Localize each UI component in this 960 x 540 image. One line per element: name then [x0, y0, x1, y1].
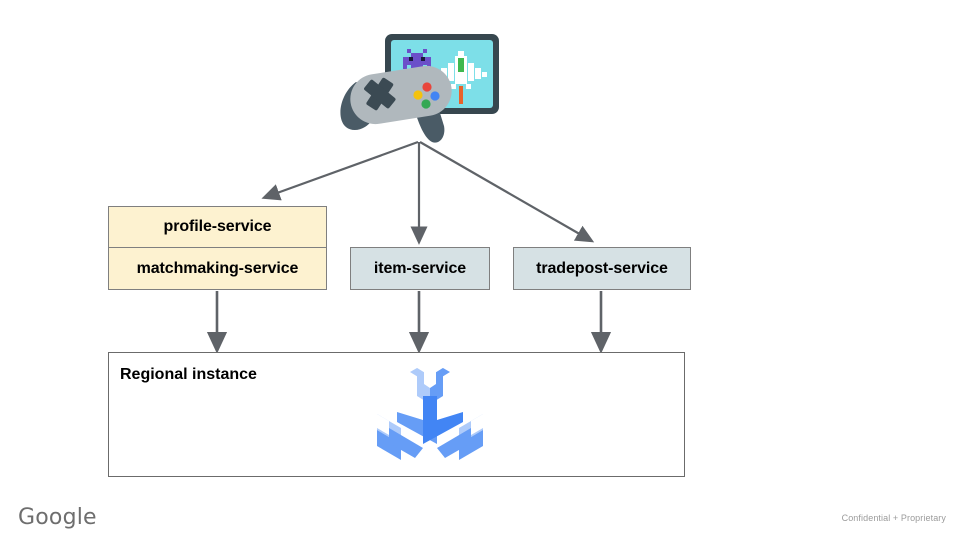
- service-label: item-service: [374, 260, 466, 278]
- service-box-profile-service[interactable]: profile-service: [108, 206, 327, 248]
- spaceship-exhaust: [459, 86, 463, 104]
- service-label: tradepost-service: [536, 260, 668, 278]
- gke-prong-up-notch: [424, 368, 436, 388]
- service-box-tradepost-service[interactable]: tradepost-service: [513, 247, 691, 290]
- gke-hub-joint: [423, 416, 437, 440]
- game-client-icon: [336, 30, 506, 145]
- spaceship-core: [458, 58, 464, 72]
- gke-kubernetes-engine-icon: [367, 366, 493, 471]
- button-red: [422, 82, 431, 91]
- button-blue: [430, 91, 439, 100]
- button-green: [421, 99, 430, 108]
- regional-instance-title: Regional instance: [120, 366, 257, 384]
- arrow-client-to-tradepost-service: [420, 142, 590, 240]
- google-logo: Google: [18, 505, 97, 530]
- service-label: matchmaking-service: [137, 260, 299, 278]
- arrow-client-to-profile-service: [266, 142, 418, 197]
- slide-canvas: profile-service matchmaking-service item…: [0, 0, 960, 540]
- service-box-item-service[interactable]: item-service: [350, 247, 490, 290]
- regional-instance-container[interactable]: Regional instance: [108, 352, 685, 477]
- button-yellow: [413, 90, 422, 99]
- confidentiality-note: Confidential + Proprietary: [842, 513, 946, 523]
- service-label: profile-service: [164, 218, 272, 236]
- service-box-matchmaking-service[interactable]: matchmaking-service: [108, 247, 327, 290]
